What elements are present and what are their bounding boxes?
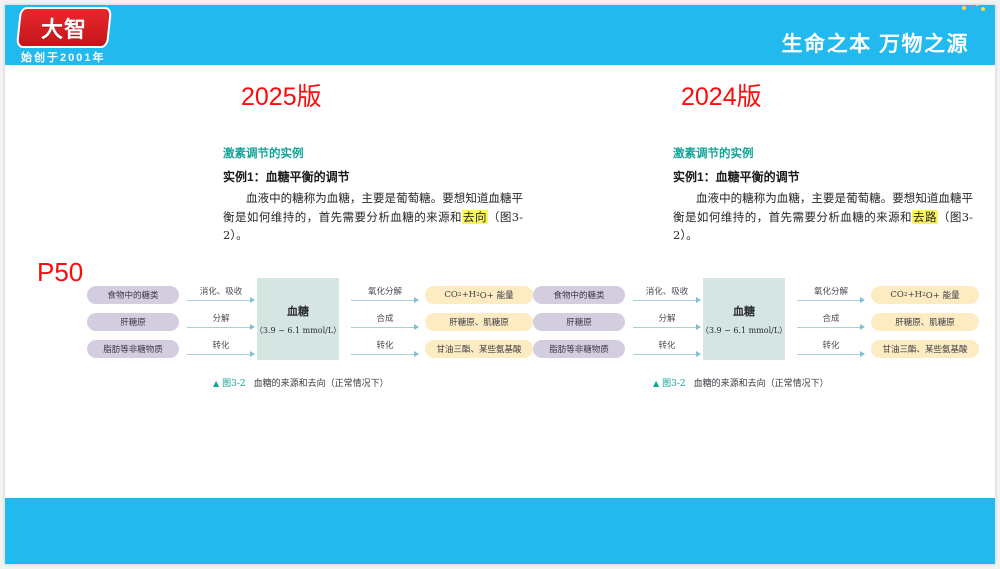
in-arrow-2: 转化: [631, 341, 703, 361]
section-title-left: 激素调节的实例: [223, 145, 523, 161]
blood-glucose-range: （3.9 ~ 6.1 mmol/L）: [701, 325, 787, 336]
slide-header: 大智 始创于2001年 生命之本 万物之源: [5, 5, 995, 65]
in-arrow-label-0: 消化、吸收: [631, 285, 703, 297]
blood-glucose-node: 血糖 （3.9 ~ 6.1 mmol/L）: [703, 278, 785, 360]
out-arrow-2: 转化: [795, 341, 867, 361]
slide-footer: [5, 498, 995, 564]
out-arrow-1: 合成: [795, 314, 867, 334]
header-slogan: 生命之本 万物之源: [782, 28, 969, 58]
out-arrow-label-1: 合成: [795, 312, 867, 324]
source-box-2: 脂肪等非糖物质: [533, 340, 625, 358]
dest-0-prefix: CO: [444, 290, 457, 300]
text-column-right: 激素调节的实例 实例1：血糖平衡的调节 血液中的糖称为血糖，主要是葡萄糖。要想知…: [673, 145, 973, 245]
dest-box-1: 肝糖原、肌糖原: [425, 313, 533, 331]
dest-0-suffix: O+ 能量: [926, 289, 960, 301]
sub-title-right: 实例1：血糖平衡的调节: [673, 168, 973, 185]
dest-box-2: 甘油三酯、某些氨基酸: [425, 340, 533, 358]
text-column-left: 激素调节的实例 实例1：血糖平衡的调节 血液中的糖称为血糖，主要是葡萄糖。要想知…: [223, 145, 523, 245]
out-arrow-2: 转化: [349, 341, 421, 361]
out-arrow-label-0: 氧化分解: [349, 285, 421, 297]
slide-canvas: 大智 始创于2001年 生命之本 万物之源 2025版 2024版 P50 激素…: [5, 5, 995, 564]
version-label-left: 2025版: [241, 77, 322, 113]
blood-glucose-range: （3.9 ~ 6.1 mmol/L）: [255, 325, 341, 336]
brand-logo: 大智: [16, 7, 112, 48]
dest-box-0: CO2+H2O+ 能量: [425, 286, 533, 304]
dest-0-mid: +H: [462, 290, 477, 300]
sub-title-left: 实例1：血糖平衡的调节: [223, 168, 523, 185]
brand-logo-text: 大智: [20, 9, 108, 46]
caption-triangle-icon: ▲: [213, 379, 219, 388]
out-arrow-label-0: 氧化分解: [795, 285, 867, 297]
in-arrow-label-0: 消化、吸收: [185, 285, 257, 297]
version-label-right: 2024版: [681, 77, 762, 113]
source-box-1: 肝糖原: [533, 313, 625, 331]
in-arrow-label-2: 转化: [185, 339, 257, 351]
dest-box-2: 甘油三酯、某些氨基酸: [871, 340, 979, 358]
dest-0-suffix: O+ 能量: [480, 289, 514, 301]
dest-box-0: CO2+H2O+ 能量: [871, 286, 979, 304]
caption-text-right: 血糖的来源和去向（正常情况下）: [694, 379, 829, 389]
in-arrow-label-1: 分解: [185, 312, 257, 324]
section-title-right: 激素调节的实例: [673, 145, 973, 161]
in-arrow-label-2: 转化: [631, 339, 703, 351]
out-arrow-0: 氧化分解: [349, 287, 421, 307]
caption-number-right: 图3-2: [662, 379, 686, 389]
blood-glucose-title: 血糖: [733, 303, 755, 319]
out-arrow-label-1: 合成: [349, 312, 421, 324]
logo-sparkle-icon: [962, 5, 984, 13]
figure-caption-left: ▲图3-2血糖的来源和去向（正常情况下）: [213, 376, 389, 389]
in-arrow-1: 分解: [185, 314, 257, 334]
out-arrow-label-2: 转化: [349, 339, 421, 351]
figure-caption-right: ▲图3-2血糖的来源和去向（正常情况下）: [653, 376, 829, 389]
in-arrow-label-1: 分解: [631, 312, 703, 324]
in-arrow-2: 转化: [185, 341, 257, 361]
body-text-left: 血液中的糖称为血糖，主要是葡萄糖。要想知道血糖平衡是如何维持的，首先需要分析血糖…: [223, 189, 523, 245]
caption-triangle-icon: ▲: [653, 379, 659, 388]
blood-glucose-title: 血糖: [287, 303, 309, 319]
highlight-term-left: 去向: [462, 210, 488, 224]
brand-tagline: 始创于2001年: [21, 49, 105, 65]
out-arrow-label-2: 转化: [795, 339, 867, 351]
in-arrow-0: 消化、吸收: [631, 287, 703, 307]
source-box-0: 食物中的糖类: [87, 286, 179, 304]
out-arrow-1: 合成: [349, 314, 421, 334]
source-box-1: 肝糖原: [87, 313, 179, 331]
caption-number-left: 图3-2: [222, 379, 246, 389]
in-arrow-0: 消化、吸收: [185, 287, 257, 307]
caption-text-left: 血糖的来源和去向（正常情况下）: [254, 379, 389, 389]
page-number-label: P50: [37, 257, 83, 288]
in-arrow-1: 分解: [631, 314, 703, 334]
source-box-2: 脂肪等非糖物质: [87, 340, 179, 358]
highlight-term-right: 去路: [912, 210, 938, 224]
source-box-0: 食物中的糖类: [533, 286, 625, 304]
out-arrow-0: 氧化分解: [795, 287, 867, 307]
dest-0-mid: +H: [908, 290, 923, 300]
blood-glucose-node: 血糖 （3.9 ~ 6.1 mmol/L）: [257, 278, 339, 360]
dest-box-1: 肝糖原、肌糖原: [871, 313, 979, 331]
body-text-right: 血液中的糖称为血糖，主要是葡萄糖。要想知道血糖平衡是如何维持的，首先需要分析血糖…: [673, 189, 973, 245]
dest-0-prefix: CO: [890, 290, 903, 300]
